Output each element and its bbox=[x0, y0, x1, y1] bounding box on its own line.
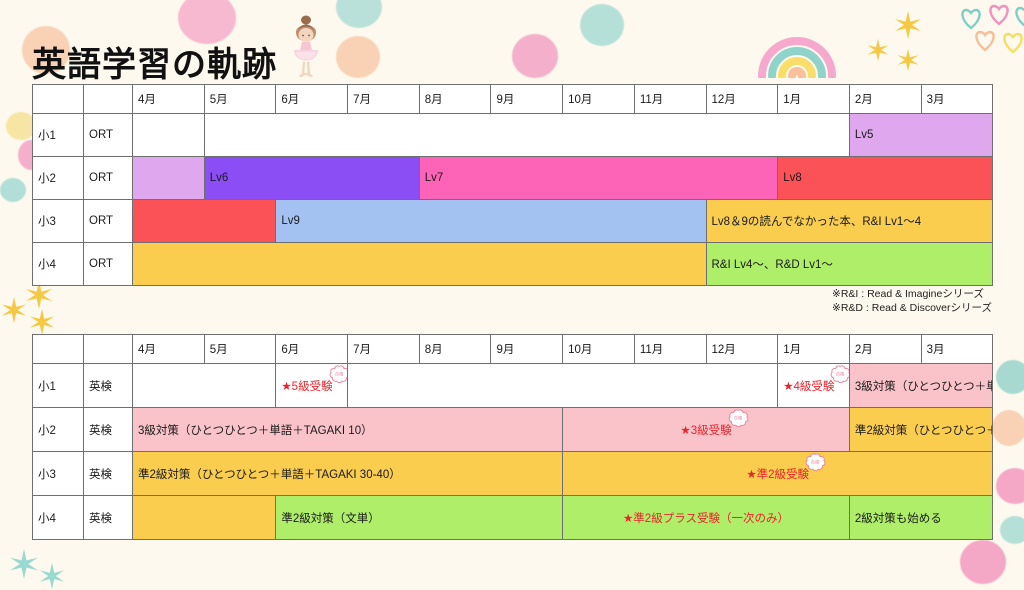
exam-milestone-cell: ★4級受験合格 bbox=[778, 364, 850, 408]
timeline-bar-label: 3級対策（ひとつひとつ＋単語＋TAGAKI 10） bbox=[138, 425, 373, 437]
table-header-row: 4月5月6月7月8月9月10月11月12月1月2月3月 bbox=[33, 335, 993, 364]
col-header-subject bbox=[84, 85, 133, 114]
star-icon-left-3 bbox=[28, 308, 56, 336]
page-title: 英語学習の軌跡 bbox=[32, 48, 277, 82]
exam-label: ★準2級受験合格 bbox=[746, 466, 809, 482]
row-subject-label: 英検 bbox=[84, 364, 133, 408]
timeline-bar-label: 準2級対策（ひとつひとつ＋単語＋TAGAKI 30-40） bbox=[138, 469, 401, 481]
row-grade-label: 小4 bbox=[33, 243, 84, 286]
timeline-bar-cell: Lv8 bbox=[778, 157, 993, 200]
col-header-month-9: 12月 bbox=[706, 335, 778, 364]
timeline-bar-cell: Lv7 bbox=[419, 157, 777, 200]
heart-icon-teal-2 bbox=[1012, 4, 1024, 28]
deco-blob-teal-top2 bbox=[580, 4, 624, 46]
row-subject-label: 英検 bbox=[84, 452, 133, 496]
row-subject-label: 英検 bbox=[84, 408, 133, 452]
exam-label: ★準2級プラス受験（一次のみ） bbox=[623, 510, 789, 526]
table-row: 小2ORTLv6Lv7Lv8 bbox=[33, 157, 993, 200]
col-header-month-7: 10月 bbox=[563, 85, 635, 114]
row-subject-label: ORT bbox=[84, 157, 133, 200]
row-grade-label: 小2 bbox=[33, 157, 84, 200]
row-grade-label: 小4 bbox=[33, 496, 84, 540]
table-row: 小3英検準2級対策（ひとつひとつ＋単語＋TAGAKI 30-40）★準2級受験合… bbox=[33, 452, 993, 496]
col-header-month-5: 8月 bbox=[419, 85, 491, 114]
exam-label: ★5級受験合格 bbox=[281, 378, 332, 394]
timeline-bar-blank bbox=[204, 114, 849, 157]
deco-blob-pink-bottom bbox=[960, 540, 1006, 584]
row-grade-label: 小3 bbox=[33, 200, 84, 243]
col-header-month-12: 3月 bbox=[921, 85, 993, 114]
timeline-bar-label: Lv6 bbox=[210, 172, 229, 184]
col-header-grade bbox=[33, 335, 84, 364]
deco-blob-peach-right bbox=[992, 410, 1024, 446]
timeline-bar-cell: 準2級対策（文単） bbox=[276, 496, 563, 540]
rainbow-icon bbox=[756, 6, 838, 78]
ort-timeline-table: 4月5月6月7月8月9月10月11月12月1月2月3月 小1ORTLv5小2OR… bbox=[32, 84, 993, 286]
table-row: 小1英検★5級受験合格★4級受験合格3級対策（ひとつひとつ＋単語＋TAGAKI … bbox=[33, 364, 993, 408]
col-header-month-6: 9月 bbox=[491, 85, 563, 114]
col-header-month-8: 11月 bbox=[634, 335, 706, 364]
table-row: 小1ORTLv5 bbox=[33, 114, 993, 157]
col-header-month-11: 2月 bbox=[849, 335, 921, 364]
col-header-month-8: 11月 bbox=[634, 85, 706, 114]
exam-milestone-cell: ★5級受験合格 bbox=[276, 364, 348, 408]
deco-blob-teal-bottom bbox=[1000, 516, 1024, 544]
deco-blob-pink-mid bbox=[512, 34, 558, 78]
col-header-month-9: 12月 bbox=[706, 85, 778, 114]
col-header-month-6: 9月 bbox=[491, 335, 563, 364]
timeline-bar-cell: Lv5 bbox=[849, 114, 992, 157]
row-subject-label: 英検 bbox=[84, 496, 133, 540]
empty-cell bbox=[133, 114, 205, 157]
heart-icon-teal bbox=[958, 6, 984, 30]
timeline-bar-label: Lv9 bbox=[281, 215, 300, 227]
col-header-month-3: 6月 bbox=[276, 335, 348, 364]
table-header-row: 4月5月6月7月8月9月10月11月12月1月2月3月 bbox=[33, 85, 993, 114]
timeline-bar-blank bbox=[133, 157, 205, 200]
col-header-month-5: 8月 bbox=[419, 335, 491, 364]
star-icon-left-2 bbox=[0, 296, 28, 324]
heart-icon-peach bbox=[972, 28, 998, 52]
row-subject-label: ORT bbox=[84, 243, 133, 286]
timeline-bar-cell: 2級対策も始める bbox=[849, 496, 992, 540]
heart-icon-pink bbox=[986, 2, 1012, 26]
timeline-bar-label: Lv8＆9の読んでなかった本、R&I Lv1〜4 bbox=[712, 216, 922, 228]
timeline-bar-cell: Lv9 bbox=[276, 200, 706, 243]
note-line: ※R&D : Read & Discoverシリーズ bbox=[832, 301, 992, 315]
col-header-month-4: 7月 bbox=[348, 85, 420, 114]
deco-blob-teal-top bbox=[336, 0, 382, 28]
col-header-month-10: 1月 bbox=[778, 335, 850, 364]
col-header-month-4: 7月 bbox=[348, 335, 420, 364]
timeline-bar-blank bbox=[348, 364, 778, 408]
timeline-bar-label: Lv8 bbox=[783, 172, 802, 184]
note-line: ※R&I : Read & Imagineシリーズ bbox=[832, 287, 992, 301]
timeline-bar-cell: Lv6 bbox=[204, 157, 419, 200]
row-grade-label: 小2 bbox=[33, 408, 84, 452]
timeline-bar-label: 3級対策（ひとつひとつ＋単語＋TAGAKI 10） bbox=[855, 378, 993, 394]
eiken-timeline-table: 4月5月6月7月8月9月10月11月12月1月2月3月 小1英検★5級受験合格★… bbox=[32, 334, 993, 540]
heart-icon-yellow bbox=[1000, 30, 1024, 54]
eiken-table-body: 小1英検★5級受験合格★4級受験合格3級対策（ひとつひとつ＋単語＋TAGAKI … bbox=[33, 364, 993, 540]
timeline-bar-cell: 3級対策（ひとつひとつ＋単語＋TAGAKI 10） bbox=[133, 408, 563, 452]
timeline-bar-cell: 準2級対策（ひとつひとつ＋単語＋TAGAKI 30-40） bbox=[133, 452, 563, 496]
legend-notes: ※R&I : Read & Imagineシリーズ ※R&D : Read & … bbox=[832, 287, 992, 315]
table-row: 小4英検準2級対策（文単）★準2級プラス受験（一次のみ）2級対策も始める bbox=[33, 496, 993, 540]
row-grade-label: 小1 bbox=[33, 364, 84, 408]
star-icon-top-2 bbox=[866, 38, 890, 62]
deco-blob-peach-mid bbox=[336, 36, 380, 78]
ballerina-doll-icon bbox=[283, 14, 329, 80]
col-header-month-11: 2月 bbox=[849, 85, 921, 114]
row-grade-label: 小3 bbox=[33, 452, 84, 496]
timeline-bar-blank bbox=[133, 364, 276, 408]
star-icon-bottom-2 bbox=[38, 562, 66, 590]
exam-label: ★3級受験合格 bbox=[680, 422, 731, 438]
col-header-month-1: 4月 bbox=[133, 85, 205, 114]
row-subject-label: ORT bbox=[84, 200, 133, 243]
timeline-bar-label: 準2級対策（ひとつひとつ＋単語＋TAGAKI 30-40） bbox=[855, 422, 993, 438]
title-bar: 英語学習の軌跡 bbox=[32, 14, 329, 82]
timeline-bar-cell: 準2級対策（ひとつひとつ＋単語＋TAGAKI 30-40） bbox=[849, 408, 992, 452]
col-header-subject bbox=[84, 335, 133, 364]
deco-blob-teal-left bbox=[0, 178, 26, 202]
timeline-bar-blank bbox=[133, 496, 276, 540]
deco-blob-pink-right bbox=[996, 468, 1024, 504]
star-icon-top-1 bbox=[893, 10, 923, 40]
col-header-month-2: 5月 bbox=[204, 335, 276, 364]
timeline-bar-cell: R&I Lv4〜、R&D Lv1〜 bbox=[706, 243, 993, 286]
timeline-bar-label: Lv5 bbox=[855, 129, 874, 141]
exam-milestone-cell: ★3級受験合格 bbox=[563, 408, 850, 452]
timeline-bar-cell: Lv8＆9の読んでなかった本、R&I Lv1〜4 bbox=[706, 200, 993, 243]
ort-table-body: 小1ORTLv5小2ORTLv6Lv7Lv8小3ORTLv9Lv8＆9の読んでな… bbox=[33, 114, 993, 286]
table-row: 小3ORTLv9Lv8＆9の読んでなかった本、R&I Lv1〜4 bbox=[33, 200, 993, 243]
col-header-month-12: 3月 bbox=[921, 335, 993, 364]
col-header-month-7: 10月 bbox=[563, 335, 635, 364]
row-subject-label: ORT bbox=[84, 114, 133, 157]
timeline-bar-label: R&I Lv4〜、R&D Lv1〜 bbox=[712, 259, 833, 271]
col-header-month-3: 6月 bbox=[276, 85, 348, 114]
timeline-bar-blank bbox=[133, 243, 707, 286]
timeline-bar-blank bbox=[133, 200, 276, 243]
timeline-bar-label: 2級対策も始める bbox=[855, 513, 942, 525]
exam-label: ★4級受験合格 bbox=[783, 378, 834, 394]
col-header-month-2: 5月 bbox=[204, 85, 276, 114]
row-grade-label: 小1 bbox=[33, 114, 84, 157]
col-header-grade bbox=[33, 85, 84, 114]
col-header-month-10: 1月 bbox=[778, 85, 850, 114]
timeline-bar-label: 準2級対策（文単） bbox=[281, 513, 379, 525]
table-row: 小2英検3級対策（ひとつひとつ＋単語＋TAGAKI 10）★3級受験合格準2級対… bbox=[33, 408, 993, 452]
table-row: 小4ORTR&I Lv4〜、R&D Lv1〜 bbox=[33, 243, 993, 286]
deco-blob-teal-right bbox=[996, 360, 1024, 394]
star-icon-top-3 bbox=[896, 48, 920, 72]
exam-milestone-cell: ★準2級受験合格 bbox=[563, 452, 993, 496]
timeline-bar-label: Lv7 bbox=[425, 172, 444, 184]
star-icon-bottom-1 bbox=[8, 548, 40, 580]
col-header-month-1: 4月 bbox=[133, 335, 205, 364]
timeline-bar-cell: 3級対策（ひとつひとつ＋単語＋TAGAKI 10） bbox=[849, 364, 992, 408]
exam-milestone-cell: ★準2級プラス受験（一次のみ） bbox=[563, 496, 850, 540]
